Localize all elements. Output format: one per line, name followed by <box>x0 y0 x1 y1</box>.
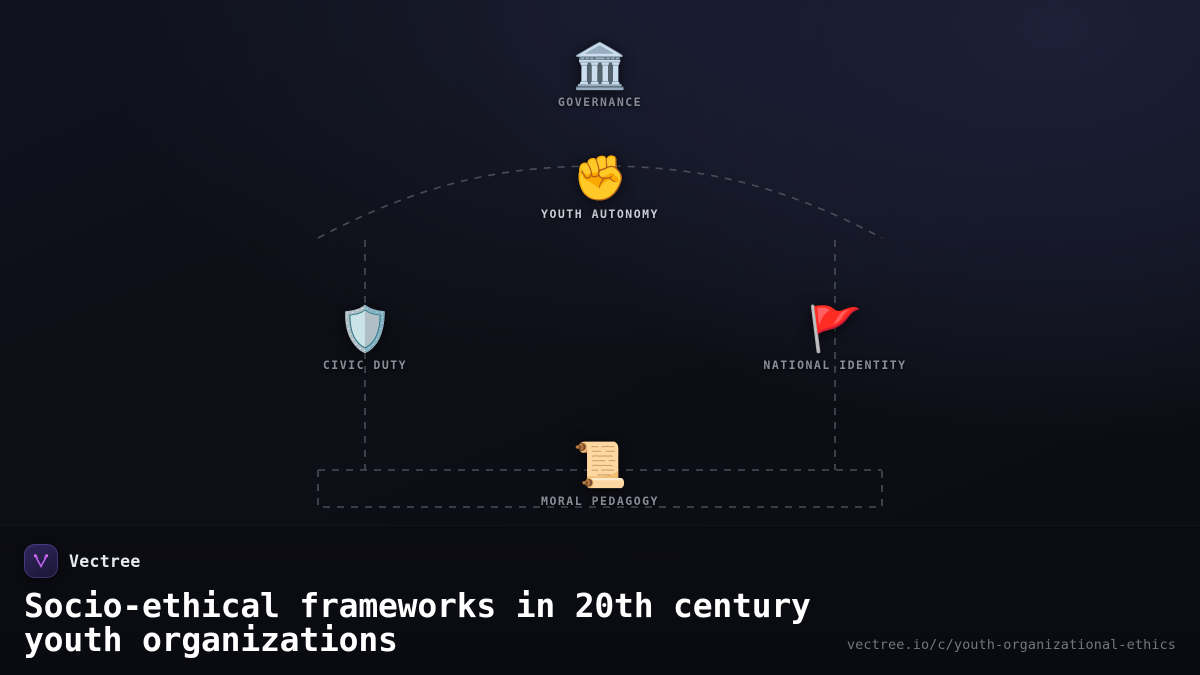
classical-building-icon: 🏛️ <box>573 41 628 93</box>
graph-node-moral-pedagogy[interactable]: 📜 MORAL PEDAGOGY <box>470 440 730 508</box>
shield-icon: 🛡️ <box>338 304 393 356</box>
graph-canvas-screenshot: 🏛️ GOVERNANCE ✊ YOUTH AUTONOMY 🛡️ CIVIC … <box>0 0 1200 675</box>
page-title: Socio-ethical frameworks in 20th century… <box>24 589 824 657</box>
brand[interactable]: Vectree <box>24 544 1176 578</box>
brand-name: Vectree <box>69 552 141 571</box>
graph-node-label: CIVIC DUTY <box>323 358 407 372</box>
graph-node-national-identity[interactable]: 🚩 NATIONAL IDENTITY <box>705 304 965 372</box>
triangular-flag-icon: 🚩 <box>808 304 863 356</box>
graph-node-label: NATIONAL IDENTITY <box>763 358 906 372</box>
share-url: vectree.io/c/youth-organizational-ethics <box>847 637 1176 653</box>
graph-node-civic-duty[interactable]: 🛡️ CIVIC DUTY <box>235 304 495 372</box>
graph-node-governance[interactable]: 🏛️ GOVERNANCE <box>470 41 730 109</box>
scroll-icon: 📜 <box>573 440 628 492</box>
graph-node-youth-autonomy[interactable]: ✊ YOUTH AUTONOMY <box>470 153 730 221</box>
vectree-logo-icon <box>24 544 58 578</box>
graph-node-label: YOUTH AUTONOMY <box>541 207 659 221</box>
graph-node-label: MORAL PEDAGOGY <box>541 494 659 508</box>
graph-node-label: GOVERNANCE <box>558 95 642 109</box>
raised-fist-icon: ✊ <box>573 153 628 205</box>
footer-bar: Vectree Socio-ethical frameworks in 20th… <box>0 525 1200 675</box>
